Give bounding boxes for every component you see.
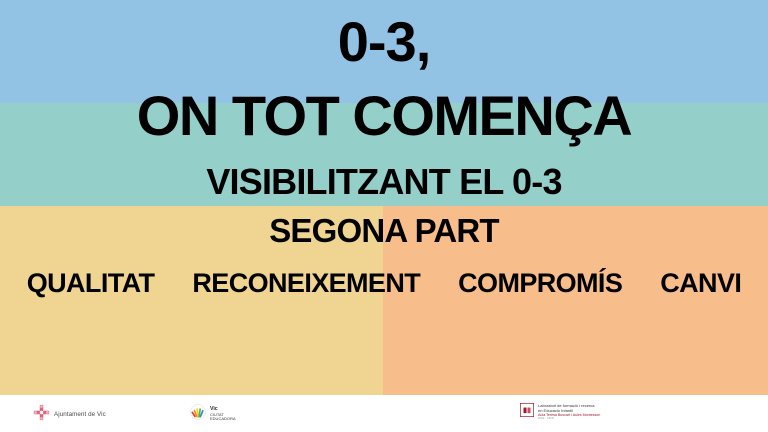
logo-laboratori-formacio-recerca: Laboratori de formació i recerca en Educ…	[520, 403, 600, 422]
logo-lab-line-four: UVic · UCC	[538, 417, 600, 421]
title-line-one: 0-3,	[0, 14, 768, 70]
cross-emblem-icon	[33, 404, 50, 426]
logo-vic-ciutat-educadora: Vic CIUTAT EDUCADORA	[190, 404, 236, 425]
subtitle: VISIBILITZANT EL 0-3	[0, 164, 768, 200]
logo-lab-text: Laboratori de formació i recerca en Educ…	[538, 404, 600, 421]
colour-fan-icon	[190, 404, 206, 425]
logo-vic-ciutat-text: Vic CIUTAT EDUCADORA	[210, 407, 236, 422]
logo-vic-line-three: EDUCADORA	[210, 417, 236, 422]
slide-canvas: 0-3, ON TOT COMENÇA VISIBILITZANT EL 0-3…	[0, 0, 768, 432]
logo-ajuntament-label: Ajuntament de Vic	[54, 411, 106, 418]
logo-ajuntament-de-vic: Ajuntament de Vic	[33, 404, 106, 426]
footer-logo-strip	[0, 395, 768, 432]
part-label: SEGONA PART	[0, 214, 768, 247]
book-emblem-icon	[520, 403, 534, 422]
title-line-two: ON TOT COMENÇA	[0, 88, 768, 144]
